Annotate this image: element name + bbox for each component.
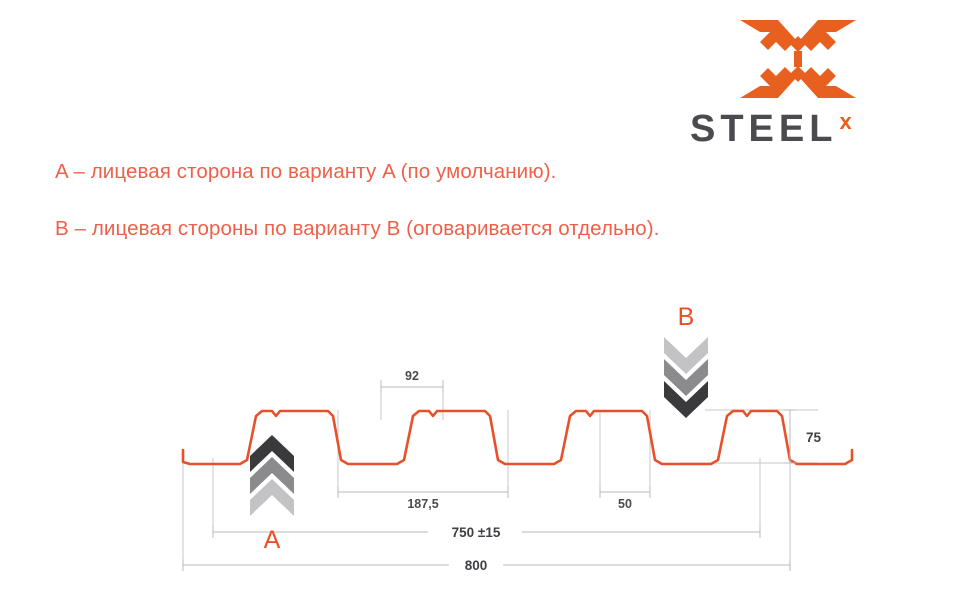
deck-profile-drawing: 92 187,5 50 750 ±15 — [0, 280, 970, 597]
dim-800-label: 800 — [465, 558, 488, 573]
technical-drawing-page: STEEL x A – лицевая сторона по варианту … — [0, 0, 970, 597]
note-variant-a: A – лицевая сторона по варианту A (по ум… — [55, 160, 556, 184]
marker-a-chevrons — [250, 435, 294, 516]
dim-750: 750 ±15 — [213, 525, 760, 540]
dim-50: 50 — [600, 486, 650, 511]
dim-750-label: 750 ±15 — [452, 525, 501, 540]
dim-92: 92 — [381, 369, 443, 393]
dim-92-label: 92 — [405, 369, 419, 383]
logo-wordmark: STEEL x — [690, 110, 905, 144]
steelx-x-mark — [738, 18, 858, 100]
marker-b-chevrons — [664, 337, 708, 418]
marker-a: A — [250, 435, 294, 554]
dim-50-label: 50 — [618, 497, 632, 511]
logo-steel-text: STEEL — [690, 110, 837, 148]
dim-187-5-label: 187,5 — [407, 497, 438, 511]
steelx-logo: STEEL x — [690, 18, 905, 143]
dim-800: 800 — [183, 558, 790, 573]
note-variant-b: B – лицевая стороны по варианту B (огова… — [55, 217, 659, 241]
dim-75: 75 — [784, 410, 822, 463]
marker-b-label: B — [678, 303, 695, 331]
marker-a-label: A — [264, 526, 281, 554]
dim-75-label: 75 — [806, 430, 822, 445]
dim-187-5: 187,5 — [338, 486, 508, 511]
marker-b: B — [664, 303, 708, 418]
logo-superscript-x: x — [839, 111, 851, 133]
